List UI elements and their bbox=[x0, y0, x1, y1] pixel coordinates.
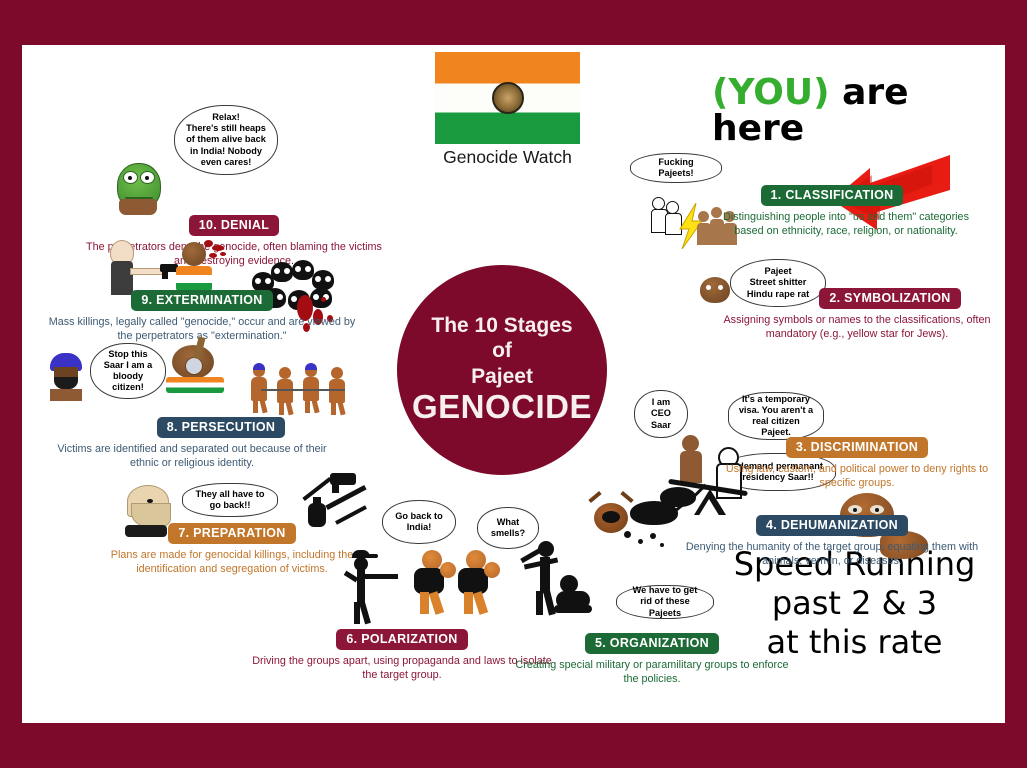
stage-discrimination-description: Using law, custom, and political power t… bbox=[712, 462, 1002, 491]
stage-discrimination: 3. DISCRIMINATION Using law, custom, and… bbox=[712, 437, 1002, 491]
stage-classification: 1. CLASSIFICATION Distinguishing people … bbox=[682, 185, 982, 239]
bubble-classification-text: Fucking Pajeets! bbox=[640, 157, 712, 179]
speed-line-2: past 2 & 3 bbox=[712, 584, 997, 623]
stage-polarization: 6. POLARIZATION Driving the groups apart… bbox=[252, 629, 552, 683]
center-line-1: The 10 Stages bbox=[431, 314, 572, 338]
genocide-watch-logo: Genocide Watch bbox=[435, 52, 580, 168]
stage-preparation-badge[interactable]: 7. PREPARATION bbox=[168, 523, 295, 544]
bubble-organization: We have to get rid of these Pajeets bbox=[616, 585, 714, 619]
stage-polarization-description: Driving the groups apart, using propagan… bbox=[252, 654, 552, 683]
bubble-preparation: They all have to go back!! bbox=[182, 483, 278, 517]
stage-organization-description: Creating special military or paramilitar… bbox=[512, 658, 792, 687]
stage-preparation: 7. PREPARATION Plans are made for genoci… bbox=[82, 523, 382, 577]
stage-dehumanization-description: Denying the humanity of the target group… bbox=[682, 540, 982, 569]
stage-polarization-badge[interactable]: 6. POLARIZATION bbox=[336, 629, 467, 650]
bubble-preparation-text: They all have to go back!! bbox=[192, 489, 268, 511]
center-line-4: GENOCIDE bbox=[412, 389, 592, 426]
bubble-what-smells: What smells? bbox=[477, 507, 539, 549]
stage-organization-badge[interactable]: 5. ORGANIZATION bbox=[585, 633, 719, 654]
bubble-polarization-text: Go back to India! bbox=[392, 511, 446, 533]
stage-persecution-description: Victims are identified and separated out… bbox=[42, 442, 342, 471]
you-word: (YOU) bbox=[712, 72, 830, 113]
stage-extermination: 9. EXTERMINATION Mass killings, legally … bbox=[42, 290, 362, 344]
bubble-ceo-saar-text: I am CEO Saar bbox=[644, 397, 678, 431]
stage-symbolization: 2. SYMBOLIZATION Assigning symbols or na… bbox=[712, 288, 1002, 342]
infographic-canvas: Genocide Watch The 10 Stages of Pajeet G… bbox=[22, 45, 1005, 723]
stage-extermination-badge[interactable]: 9. EXTERMINATION bbox=[131, 290, 272, 311]
center-line-2: of bbox=[492, 339, 512, 363]
ashoka-chakra-icon bbox=[492, 82, 524, 114]
bubble-classification: Fucking Pajeets! bbox=[630, 153, 722, 183]
bubble-discrimination: It's a temporary visa. You aren't a real… bbox=[728, 392, 824, 440]
stage-persecution-badge[interactable]: 8. PERSECUTION bbox=[157, 417, 285, 438]
stage-persecution: 8. PERSECUTION Victims are identified an… bbox=[42, 417, 342, 471]
stage-symbolization-description: Assigning symbols or names to the classi… bbox=[712, 313, 1002, 342]
logo-label: Genocide Watch bbox=[435, 147, 580, 168]
bubble-polarization: Go back to India! bbox=[382, 500, 456, 544]
indian-flag-icon bbox=[435, 52, 580, 144]
bubble-denial-text: Relax! There's still heaps of them alive… bbox=[186, 112, 266, 168]
poster-frame: Genocide Watch The 10 Stages of Pajeet G… bbox=[22, 45, 1005, 723]
bubble-discrimination-text: It's a temporary visa. You aren't a real… bbox=[738, 394, 814, 439]
stage-dehumanization: 4. DEHUMANIZATION Denying the humanity o… bbox=[682, 515, 982, 569]
you-are-here-annotation: (YOU) are here bbox=[712, 75, 982, 147]
stage-classification-description: Distinguishing people into "us and them"… bbox=[682, 210, 982, 239]
bubble-what-smells-text: What smells? bbox=[487, 517, 529, 539]
center-title-circle: The 10 Stages of Pajeet GENOCIDE bbox=[397, 265, 607, 475]
stage-dehumanization-badge[interactable]: 4. DEHUMANIZATION bbox=[756, 515, 908, 536]
stage-organization: 5. ORGANIZATION Creating special militar… bbox=[512, 633, 792, 687]
stage-classification-badge[interactable]: 1. CLASSIFICATION bbox=[761, 185, 904, 206]
bubble-persecution: Stop this Saar I am a bloody citizen! bbox=[90, 343, 166, 399]
center-line-3: Pajeet bbox=[471, 365, 533, 389]
stage-discrimination-badge[interactable]: 3. DISCRIMINATION bbox=[786, 437, 928, 458]
stage-denial-badge[interactable]: 10. DENIAL bbox=[189, 215, 279, 236]
bubble-organization-text: We have to get rid of these Pajeets bbox=[626, 585, 704, 619]
bubble-denial: Relax! There's still heaps of them alive… bbox=[174, 105, 278, 175]
stage-symbolization-badge[interactable]: 2. SYMBOLIZATION bbox=[819, 288, 960, 309]
stage-preparation-description: Plans are made for genocidal killings, i… bbox=[82, 548, 382, 577]
bubble-ceo-saar: I am CEO Saar bbox=[634, 390, 688, 438]
bubble-persecution-text: Stop this Saar I am a bloody citizen! bbox=[100, 349, 156, 394]
